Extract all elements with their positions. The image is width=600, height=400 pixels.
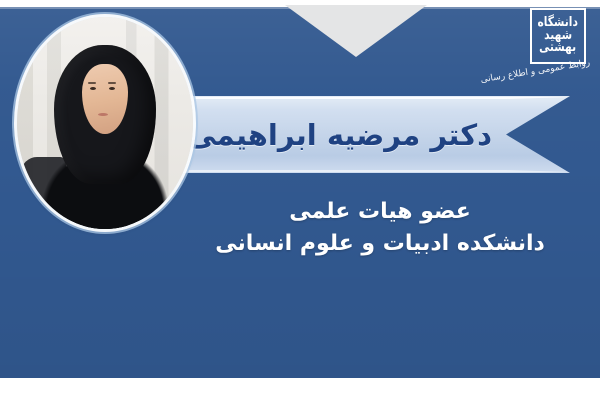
person-name: دکتر مرضیه ابراهیمی <box>187 118 492 152</box>
portrait-brow-left <box>88 82 96 84</box>
v-notch-fill <box>285 5 427 57</box>
subtitle-line-faculty: دانشکده ادبیات و علوم انسانی <box>200 228 560 260</box>
profile-banner-card: دانشگاه شهید بهشتی روابط عمومی و اطلاع ر… <box>0 0 600 400</box>
logo-square-mark-icon: دانشگاه شهید بهشتی <box>530 8 586 64</box>
subtitle-block: عضو هیات علمی دانشکده ادبیات و علوم انسا… <box>200 196 560 260</box>
top-v-notch-decoration <box>285 5 427 57</box>
avatar <box>17 17 193 229</box>
portrait-eye-left <box>90 87 96 90</box>
university-logo: دانشگاه شهید بهشتی روابط عمومی و اطلاع ر… <box>484 6 592 94</box>
logo-line-3: بهشتی <box>539 42 576 54</box>
logo-glyph-stack: دانشگاه شهید بهشتی <box>535 13 581 59</box>
portrait-brow-right <box>108 82 116 84</box>
subtitle-line-role: عضو هیات علمی <box>200 196 560 228</box>
